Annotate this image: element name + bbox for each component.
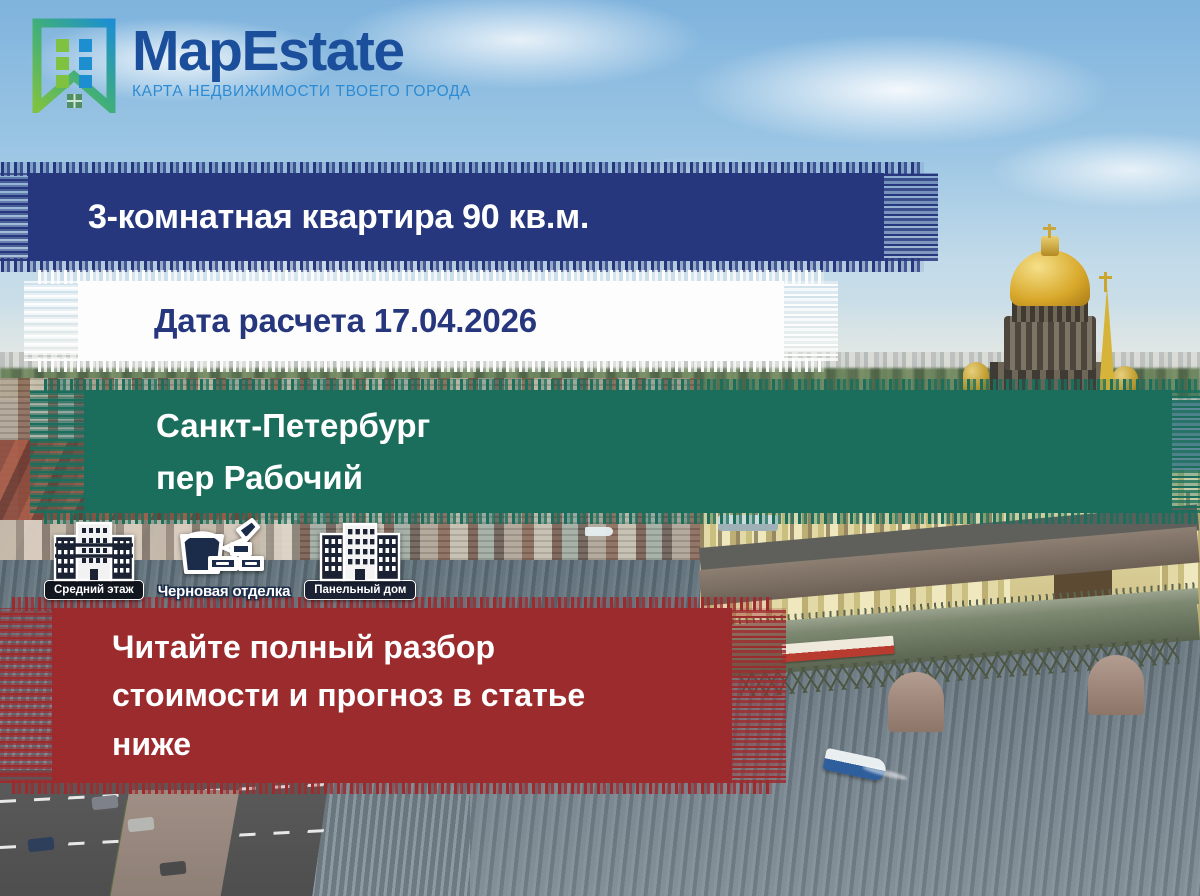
brand-logo[interactable]: MapEstate КАРТА НЕДВИЖИМОСТИ ТВОЕГО ГОРО… <box>30 18 471 113</box>
apartment-title-banner: 3-комнатная квартира 90 кв.м. <box>18 173 894 261</box>
location-banner: Санкт-Петербург пер Рабочий <box>74 390 1182 513</box>
promo-card: MapEstate КАРТА НЕДВИЖИМОСТИ ТВОЕГО ГОРО… <box>0 0 1200 896</box>
property-attribute-badges: Средний этаж Черновая отделка <box>44 518 416 600</box>
cta-line-3: ниже <box>112 720 722 769</box>
cta-line-1: Читайте полный разбор <box>112 623 722 672</box>
car <box>27 837 54 853</box>
bookmark-building-icon <box>30 18 118 113</box>
bridge-pier <box>1088 655 1144 715</box>
brand-tagline: КАРТА НЕДВИЖИМОСТИ ТВОЕГО ГОРОДА <box>132 83 471 101</box>
car <box>91 795 118 811</box>
cta-banner: Читайте полный разбор стоимости и прогно… <box>42 608 742 783</box>
bridge-pier <box>888 672 944 732</box>
location-text: Санкт-Петербург пер Рабочий <box>74 400 1182 502</box>
distant-boat <box>585 527 613 536</box>
cta-text: Читайте полный разбор стоимости и прогно… <box>42 623 742 769</box>
badge-label: Средний этаж <box>44 580 144 600</box>
badge-rough-finish[interactable]: Черновая отделка <box>158 518 291 600</box>
panel-house-icon <box>318 520 402 582</box>
street-name: пер Рабочий <box>156 452 1182 503</box>
badge-mid-floor[interactable]: Средний этаж <box>44 520 144 600</box>
badge-label: Панельный дом <box>304 580 416 600</box>
sidewalk <box>111 790 240 896</box>
city-name: Санкт-Петербург <box>156 400 1182 451</box>
calculation-date-banner: Дата расчета 17.04.2026 <box>68 281 794 361</box>
cta-line-2: стоимости и прогноз в статье <box>112 671 722 720</box>
bucket-trowel-bricks-icon <box>172 518 276 582</box>
mid-floor-building-icon <box>52 520 136 582</box>
calculation-date-text: Дата расчета 17.04.2026 <box>68 302 794 340</box>
apartment-title-text: 3-комнатная квартира 90 кв.м. <box>18 198 894 237</box>
badge-panel-house[interactable]: Панельный дом <box>304 520 416 600</box>
spire-cross-icon <box>1104 272 1107 292</box>
car <box>159 861 186 877</box>
brand-wordmark: MapEstate <box>132 24 471 80</box>
badge-label: Черновая отделка <box>158 583 291 600</box>
car <box>127 817 154 833</box>
